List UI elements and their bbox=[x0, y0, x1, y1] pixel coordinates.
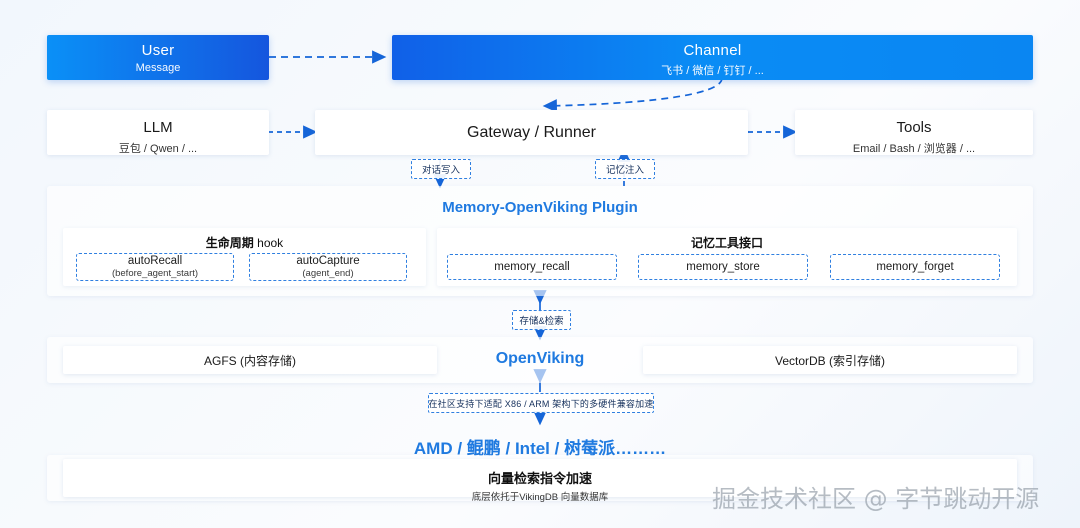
tag-dialogue-write-label: 对话写入 bbox=[422, 162, 460, 176]
api-memory-recall[interactable]: memory_recall bbox=[447, 254, 617, 280]
watermark: 掘金技术社区 @ 字节跳动开源 bbox=[712, 479, 1039, 514]
channel-subtitle: 飞书 / 微信 / 钉钉 / ... bbox=[392, 62, 1033, 78]
hook-autorecall[interactable]: autoRecall (before_agent_start) bbox=[76, 253, 234, 281]
vectordb-card[interactable]: VectorDB (索引存储) bbox=[643, 346, 1017, 374]
user-title: User bbox=[47, 42, 269, 59]
hook-autocapture[interactable]: autoCapture (agent_end) bbox=[249, 253, 407, 281]
agfs-label: AGFS (内容存储) bbox=[204, 352, 296, 369]
tag-store-retrieve-label: 存储&检索 bbox=[519, 313, 563, 327]
gateway-title: Gateway / Runner bbox=[467, 124, 596, 142]
llm-card[interactable]: LLM 豆包 / Qwen / ... bbox=[47, 110, 269, 155]
tag-store-retrieve: 存储&检索 bbox=[512, 310, 571, 330]
hook-autorecall-event: (before_agent_start) bbox=[112, 268, 198, 279]
llm-subtitle: 豆包 / Qwen / ... bbox=[47, 140, 269, 156]
tag-hardware-note-label: 在社区支持下适配 X86 / ARM 架构下的多硬件兼容加速 bbox=[428, 397, 653, 410]
memory-tools-label-text: 记忆工具接口 bbox=[691, 236, 763, 250]
openviking-title: OpenViking bbox=[440, 350, 640, 368]
api-memory-forget-label: memory_forget bbox=[876, 261, 953, 273]
channel-box[interactable]: Channel 飞书 / 微信 / 钉钉 / ... bbox=[392, 35, 1033, 80]
lifecycle-label: 生命周期 hook bbox=[63, 234, 426, 251]
user-subtitle: Message bbox=[47, 62, 269, 74]
api-memory-store-label: memory_store bbox=[686, 261, 760, 273]
lifecycle-label-bold: 生命周期 bbox=[206, 236, 254, 250]
api-memory-store[interactable]: memory_store bbox=[638, 254, 808, 280]
vectordb-label: VectorDB (索引存储) bbox=[775, 352, 885, 369]
llm-title: LLM bbox=[47, 119, 269, 136]
api-memory-forget[interactable]: memory_forget bbox=[830, 254, 1000, 280]
tag-hardware-note: 在社区支持下适配 X86 / ARM 架构下的多硬件兼容加速 bbox=[428, 393, 654, 413]
agfs-card[interactable]: AGFS (内容存储) bbox=[63, 346, 437, 374]
user-box[interactable]: User Message bbox=[47, 35, 269, 80]
hook-autocapture-name: autoCapture bbox=[296, 255, 359, 267]
api-memory-recall-label: memory_recall bbox=[494, 261, 569, 273]
memory-tools-label: 记忆工具接口 bbox=[437, 234, 1017, 251]
gateway-card[interactable]: Gateway / Runner bbox=[315, 110, 748, 155]
tools-title: Tools bbox=[795, 119, 1033, 136]
arrow-channel-to-gateway bbox=[545, 78, 722, 106]
tag-memory-inject: 记忆注入 bbox=[595, 159, 655, 179]
lifecycle-label-light: hook bbox=[257, 236, 283, 250]
hook-autorecall-name: autoRecall bbox=[128, 255, 182, 267]
tag-dialogue-write: 对话写入 bbox=[411, 159, 471, 179]
channel-title: Channel bbox=[392, 42, 1033, 59]
tools-card[interactable]: Tools Email / Bash / 浏览器 / ... bbox=[795, 110, 1033, 155]
diagram-canvas: User Message Channel 飞书 / 微信 / 钉钉 / ... … bbox=[0, 0, 1080, 528]
tools-subtitle: Email / Bash / 浏览器 / ... bbox=[795, 140, 1033, 156]
tag-memory-inject-label: 记忆注入 bbox=[606, 162, 644, 176]
plugin-title: Memory-OpenViking Plugin bbox=[0, 199, 1080, 216]
hook-autocapture-event: (agent_end) bbox=[302, 268, 353, 279]
